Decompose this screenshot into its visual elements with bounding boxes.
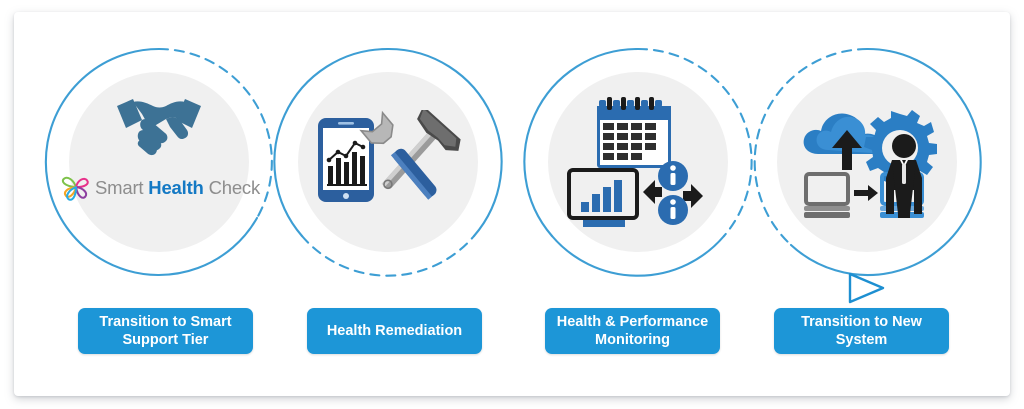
step-circle-4[interactable]: [751, 46, 983, 278]
calendar-part: [597, 97, 671, 168]
step-circle-1[interactable]: Smart Health Check: [43, 46, 275, 278]
step-label-health-and-performance-monitoring[interactable]: Health & Performance Monitoring: [545, 308, 720, 354]
brand-wordmark: Smart Health Check: [95, 177, 260, 199]
step-1-label-line2: Support Tier: [123, 332, 209, 348]
steps-labels-row: Transition to Smart Support Tier Health …: [14, 308, 1010, 380]
step-3-label-line1: Health & Performance: [557, 314, 709, 330]
step-circle-3[interactable]: [522, 46, 754, 278]
brand-word-smart: Smart: [95, 177, 143, 198]
step-4-label-line1: Transition to New: [801, 314, 922, 330]
step-2-label-line1: Health Remediation: [327, 323, 462, 339]
monitor-bar-chart-part: [569, 170, 637, 227]
source-computer: [804, 174, 850, 218]
step-3-label-line2: Monitoring: [595, 332, 670, 348]
screenshot-root: Smart Health Check: [0, 0, 1024, 409]
step-1-label-line1: Transition to Smart: [99, 314, 231, 330]
step-1-brand-lockup: Smart Health Check: [43, 46, 275, 278]
handshake-icon: [109, 90, 209, 156]
diagram-card: Smart Health Check: [14, 12, 1010, 396]
step-4-icon: [777, 72, 957, 252]
play-triangle-marker[interactable]: [845, 271, 887, 305]
step-circle-2[interactable]: [272, 46, 504, 278]
tablet-chart-wrench-hammer-icon: [312, 110, 464, 214]
step-label-health-remediation[interactable]: Health Remediation: [307, 308, 482, 354]
step-2-icon: [298, 72, 478, 252]
step-4-label-line2: System: [836, 332, 888, 348]
brand-logo-row: Smart Health Check: [59, 168, 263, 208]
calendar-monitor-info-arrows-icon: [563, 92, 713, 232]
step-3-icon: [548, 72, 728, 252]
step-label-transition-to-smart-support-tier[interactable]: Transition to Smart Support Tier: [78, 308, 253, 354]
brand-word-health: Health: [148, 177, 203, 198]
cloud-upload-gear-person-migration-icon: [792, 102, 942, 222]
smart-health-check-flower-logo: [59, 171, 93, 205]
steps-circles-row: Smart Health Check: [14, 12, 1010, 312]
step-label-transition-to-new-system[interactable]: Transition to New System: [774, 308, 949, 354]
brand-word-check: Check: [209, 177, 260, 198]
